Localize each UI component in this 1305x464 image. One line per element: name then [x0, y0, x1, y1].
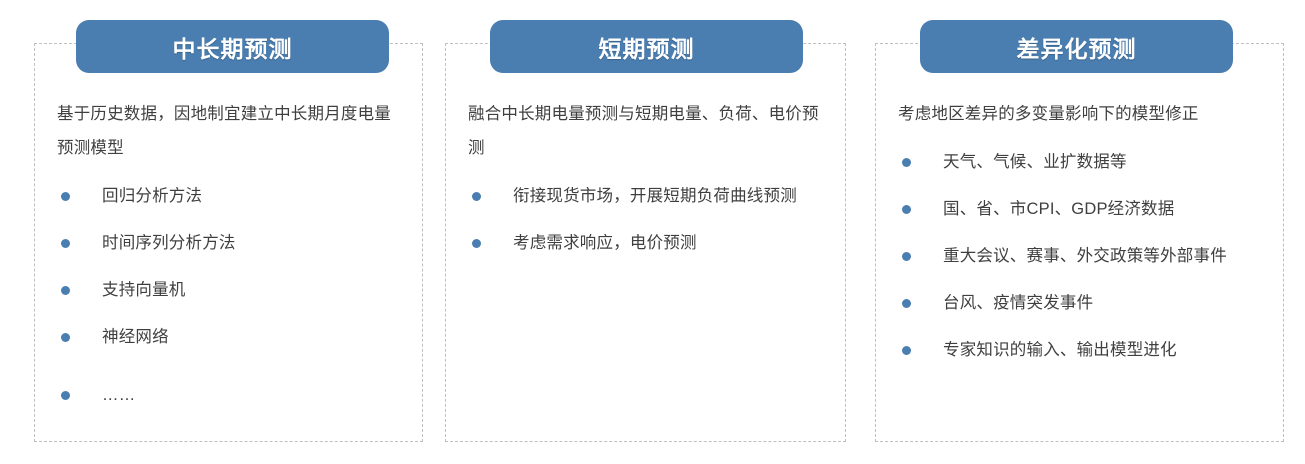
bullet-dot-icon	[902, 252, 911, 261]
list-item-label: 台风、疫情突发事件	[943, 294, 1093, 312]
bullet-list-mid-long-term-forecast: 回归分析方法 时间序列分析方法 支持向量机 神经网络 ……	[57, 179, 407, 412]
list-item-label: 回归分析方法	[102, 187, 202, 205]
panel-intro-text: 基于历史数据，因地制宜建立中长期月度电量预测模型	[57, 97, 407, 165]
list-item-label: 衔接现货市场，开展短期负荷曲线预测	[513, 187, 797, 205]
panel-content-mid-long-term-forecast: 基于历史数据，因地制宜建立中长期月度电量预测模型 回归分析方法 时间序列分析方法…	[57, 97, 407, 412]
list-item-label: 国、省、市CPI、GDP经济数据	[943, 200, 1174, 218]
list-item: 时间序列分析方法	[57, 226, 407, 260]
list-item-label: 专家知识的输入、输出模型进化	[943, 341, 1177, 359]
bullet-dot-icon	[61, 239, 70, 248]
list-item-label: 支持向量机	[102, 281, 186, 299]
panel-title-short-term-forecast: 短期预测	[490, 20, 803, 73]
list-item-label: ……	[102, 386, 135, 404]
list-item-label: 时间序列分析方法	[102, 234, 236, 252]
panel-content-short-term-forecast: 融合中长期电量预测与短期电量、负荷、电价预测 衔接现货市场，开展短期负荷曲线预测…	[468, 97, 828, 260]
bullet-dot-icon	[472, 192, 481, 201]
list-item: 国、省、市CPI、GDP经济数据	[898, 192, 1266, 226]
list-item: 专家知识的输入、输出模型进化	[898, 333, 1266, 367]
panel-intro-text: 融合中长期电量预测与短期电量、负荷、电价预测	[468, 97, 828, 165]
panel-intro-text: 考虑地区差异的多变量影响下的模型修正	[898, 97, 1266, 131]
list-item: 神经网络	[57, 320, 407, 354]
bullet-dot-icon	[902, 299, 911, 308]
bullet-dot-icon	[61, 391, 70, 400]
bullet-dot-icon	[902, 205, 911, 214]
list-item: 台风、疫情突发事件	[898, 286, 1266, 320]
list-item: 回归分析方法	[57, 179, 407, 213]
bullet-dot-icon	[902, 158, 911, 167]
panel-title-mid-long-term-forecast: 中长期预测	[76, 20, 389, 73]
list-item: 支持向量机	[57, 273, 407, 307]
list-item-label: 天气、气候、业扩数据等	[943, 153, 1127, 171]
list-item-label: 重大会议、赛事、外交政策等外部事件	[943, 247, 1227, 265]
panel-content-differentiated-forecast: 考虑地区差异的多变量影响下的模型修正 天气、气候、业扩数据等 国、省、市CPI、…	[898, 97, 1266, 367]
bullet-dot-icon	[61, 286, 70, 295]
bullet-dot-icon	[902, 346, 911, 355]
diagram-canvas: 中长期预测 基于历史数据，因地制宜建立中长期月度电量预测模型 回归分析方法 时间…	[0, 0, 1305, 464]
bullet-dot-icon	[61, 192, 70, 201]
bullet-list-short-term-forecast: 衔接现货市场，开展短期负荷曲线预测 考虑需求响应，电价预测	[468, 179, 828, 260]
list-item: 天气、气候、业扩数据等	[898, 145, 1266, 179]
bullet-dot-icon	[61, 333, 70, 342]
list-item: ……	[57, 378, 407, 412]
bullet-list-differentiated-forecast: 天气、气候、业扩数据等 国、省、市CPI、GDP经济数据 重大会议、赛事、外交政…	[898, 145, 1266, 367]
list-item: 衔接现货市场，开展短期负荷曲线预测	[468, 179, 828, 213]
list-item: 重大会议、赛事、外交政策等外部事件	[898, 239, 1266, 273]
list-item-label: 神经网络	[102, 328, 169, 346]
list-item-label: 考虑需求响应，电价预测	[513, 234, 697, 252]
bullet-dot-icon	[472, 239, 481, 248]
panel-title-differentiated-forecast: 差异化预测	[920, 20, 1233, 73]
list-item: 考虑需求响应，电价预测	[468, 226, 828, 260]
